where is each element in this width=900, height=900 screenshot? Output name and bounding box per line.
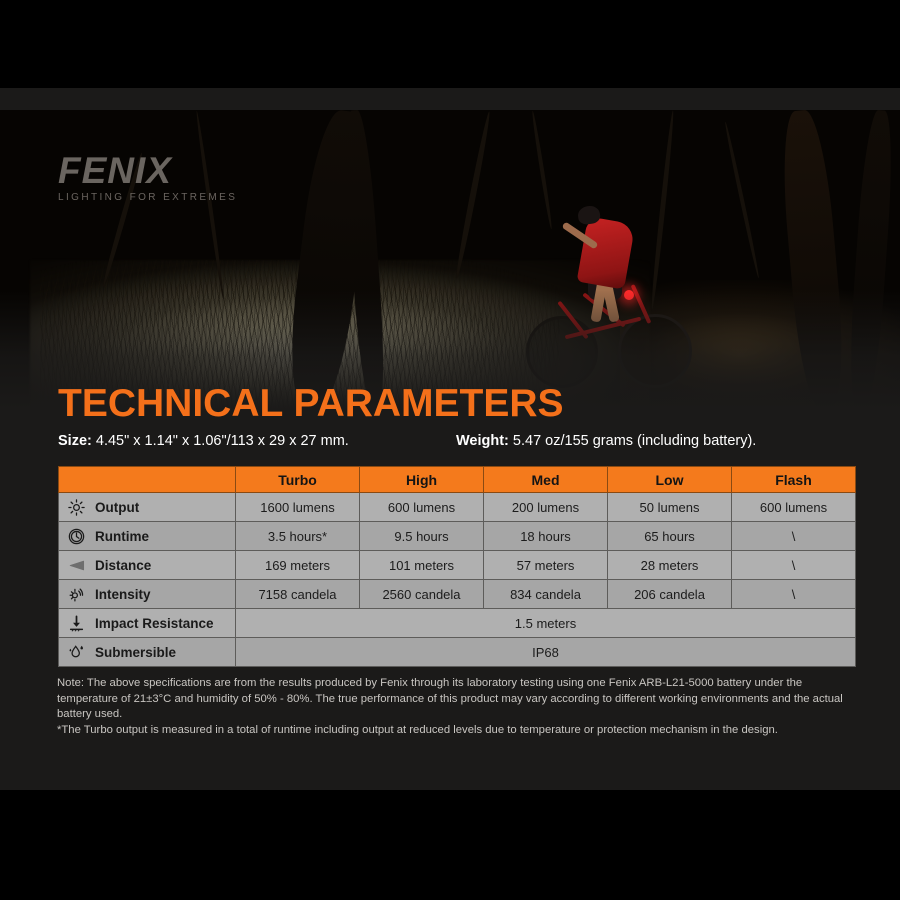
logo-tagline: LIGHTING FOR EXTREMES bbox=[58, 192, 237, 203]
table-row: Intensity7158 candela2560 candela834 can… bbox=[59, 580, 856, 609]
row-value-cell: \ bbox=[732, 580, 856, 609]
row-value-cell: 101 meters bbox=[360, 551, 484, 580]
column-header-high: High bbox=[360, 467, 484, 493]
column-header-med: Med bbox=[484, 467, 608, 493]
row-label-text: Output bbox=[95, 500, 139, 515]
footnote-line-2: *The Turbo output is measured in a total… bbox=[57, 723, 862, 739]
row-label-cell: Output bbox=[59, 493, 236, 522]
fenix-logo: FENIX LIGHTING FOR EXTREMES bbox=[58, 152, 237, 203]
branch bbox=[454, 111, 492, 279]
size-label: Size: bbox=[58, 433, 92, 449]
row-label-text: Distance bbox=[95, 558, 151, 573]
row-label-cell: Distance bbox=[59, 551, 236, 580]
row-value-cell: 57 meters bbox=[484, 551, 608, 580]
row-value-cell: \ bbox=[732, 551, 856, 580]
row-value-cell: 50 lumens bbox=[608, 493, 732, 522]
footnote-line-1: Note: The above specifications are from … bbox=[57, 676, 862, 723]
table-body: Output1600 lumens600 lumens200 lumens50 … bbox=[59, 493, 856, 667]
table-row: Runtime3.5 hours*9.5 hours18 hours65 hou… bbox=[59, 522, 856, 551]
table-corner-cell bbox=[59, 467, 236, 493]
row-value-cell: 2560 candela bbox=[360, 580, 484, 609]
poster-root: FENIX LIGHTING FOR EXTREMES TECHNICAL PA… bbox=[0, 0, 900, 900]
branch bbox=[723, 121, 760, 278]
table-row: Impact Resistance1.5 meters bbox=[59, 609, 856, 638]
water-drop-icon bbox=[67, 643, 86, 662]
rider-torso bbox=[577, 216, 636, 289]
weight-value: 5.47 oz/155 grams (including battery). bbox=[513, 433, 756, 449]
table-row: SubmersibleIP68 bbox=[59, 638, 856, 667]
clock-icon bbox=[67, 527, 86, 546]
row-value-cell: 600 lumens bbox=[732, 493, 856, 522]
size-spec: Size: 4.45" x 1.14" x 1.06"/113 x 29 x 2… bbox=[58, 433, 349, 449]
beam-triangle-icon bbox=[67, 556, 86, 575]
row-label-text: Submersible bbox=[95, 645, 176, 660]
table-head: Turbo High Med Low Flash bbox=[59, 467, 856, 493]
specs-table: Turbo High Med Low Flash Output1600 lume… bbox=[58, 466, 856, 667]
intensity-sun-icon bbox=[67, 585, 86, 604]
row-label-text: Runtime bbox=[95, 529, 149, 544]
row-label-cell: Impact Resistance bbox=[59, 609, 236, 638]
row-label-text: Impact Resistance bbox=[95, 616, 214, 631]
row-value-cell: 169 meters bbox=[236, 551, 360, 580]
column-header-turbo: Turbo bbox=[236, 467, 360, 493]
content-panel: FENIX LIGHTING FOR EXTREMES TECHNICAL PA… bbox=[0, 88, 900, 790]
row-value-cell: 65 hours bbox=[608, 522, 732, 551]
row-value-cell: 600 lumens bbox=[360, 493, 484, 522]
row-label-text: Intensity bbox=[95, 587, 151, 602]
row-label-cell: Intensity bbox=[59, 580, 236, 609]
table-row: Output1600 lumens600 lumens200 lumens50 … bbox=[59, 493, 856, 522]
row-label-cell: Submersible bbox=[59, 638, 236, 667]
row-value-cell: 1.5 meters bbox=[236, 609, 856, 638]
weight-label: Weight: bbox=[456, 433, 509, 449]
row-label-cell: Runtime bbox=[59, 522, 236, 551]
row-value-cell: 206 candela bbox=[608, 580, 732, 609]
column-header-flash: Flash bbox=[732, 467, 856, 493]
specs-table-wrapper: Turbo High Med Low Flash Output1600 lume… bbox=[58, 466, 856, 667]
sun-icon bbox=[67, 498, 86, 517]
row-value-cell: 9.5 hours bbox=[360, 522, 484, 551]
weight-spec: Weight: 5.47 oz/155 grams (including bat… bbox=[456, 433, 756, 449]
row-value-cell: 7158 candela bbox=[236, 580, 360, 609]
row-value-cell: 18 hours bbox=[484, 522, 608, 551]
row-value-cell: 834 candela bbox=[484, 580, 608, 609]
row-value-cell: \ bbox=[732, 522, 856, 551]
row-value-cell: 200 lumens bbox=[484, 493, 608, 522]
footnote-block: Note: The above specifications are from … bbox=[57, 676, 862, 738]
table-header-row: Turbo High Med Low Flash bbox=[59, 467, 856, 493]
column-header-low: Low bbox=[608, 467, 732, 493]
impact-arrow-icon bbox=[67, 614, 86, 633]
size-value: 4.45" x 1.14" x 1.06"/113 x 29 x 27 mm. bbox=[96, 433, 349, 449]
row-value-cell: 3.5 hours* bbox=[236, 522, 360, 551]
table-row: Distance169 meters101 meters57 meters28 … bbox=[59, 551, 856, 580]
page-title: TECHNICAL PARAMETERS bbox=[58, 384, 564, 423]
row-value-cell: 1600 lumens bbox=[236, 493, 360, 522]
row-value-cell: 28 meters bbox=[608, 551, 732, 580]
logo-wordmark: FENIX bbox=[58, 152, 237, 189]
row-value-cell: IP68 bbox=[236, 638, 856, 667]
